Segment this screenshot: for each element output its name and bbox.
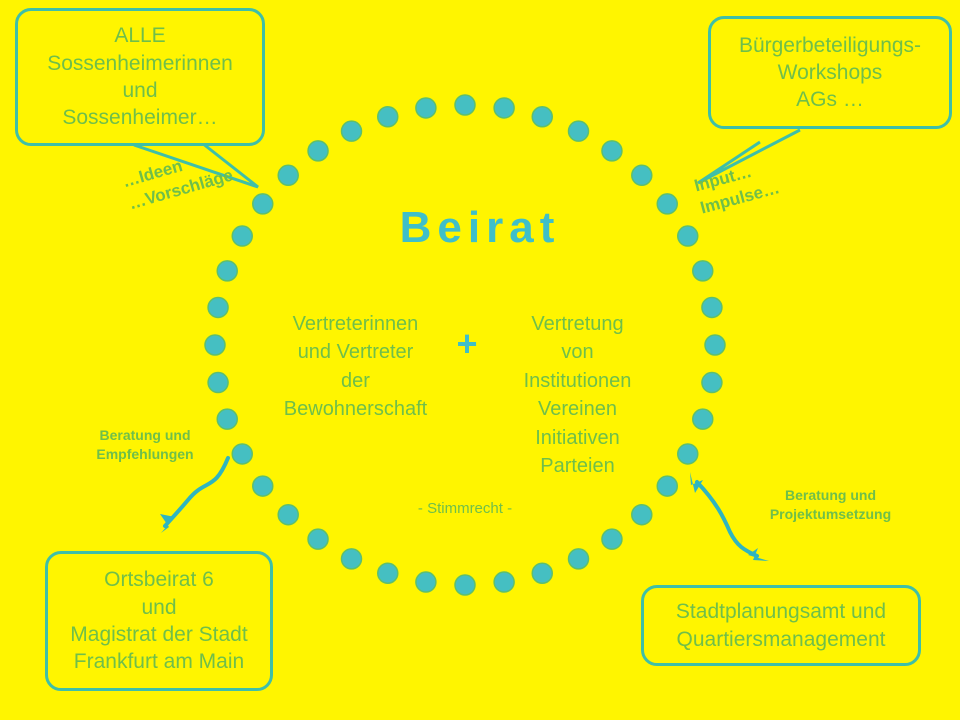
flow-label-beratung-empfehlungen: Beratung undEmpfehlungen: [80, 426, 210, 464]
ring-dot: [208, 297, 228, 317]
ring-dot: [416, 98, 436, 118]
ring-dot: [494, 572, 514, 592]
center-footnote-stimmrecht: - Stimmrecht -: [340, 500, 590, 517]
ring-dot: [217, 409, 237, 429]
box-ortsbeirat: Ortsbeirat 6undMagistrat der StadtFrankf…: [45, 551, 273, 691]
ring-dot: [208, 373, 228, 393]
flow-label-beratung-projektumsetzung: Beratung undProjektumsetzung: [748, 486, 913, 524]
speech-bubble-buergerbeteiligung: Bürgerbeteiligungs-WorkshopsAGs …: [708, 16, 952, 129]
ring-dot: [308, 141, 328, 161]
plus-icon: +: [447, 326, 487, 362]
box-ortsbeirat-text: Ortsbeirat 6undMagistrat der StadtFrankf…: [62, 566, 255, 675]
ring-dot: [416, 572, 436, 592]
ring-dot: [532, 107, 552, 127]
ring-dot: [308, 529, 328, 549]
ring-dot: [693, 261, 713, 281]
ring-dot: [569, 549, 589, 569]
ring-dot: [532, 563, 552, 583]
speech-bubble-alle-sossenheimer: ALLESossenheimerinnenundSossenheimer…: [15, 8, 265, 146]
center-column-left: Vertreterinnenund VertreterderBewohnersc…: [268, 310, 443, 424]
ring-dot: [232, 444, 252, 464]
ring-dot: [217, 261, 237, 281]
ring-dot: [455, 95, 475, 115]
center-column-right: VertretungvonInstitutionenVereinenInitia…: [490, 310, 665, 480]
ring-dot: [693, 409, 713, 429]
ring-dot: [632, 505, 652, 525]
ring-dot: [702, 297, 722, 317]
ring-dot: [278, 165, 298, 185]
ring-dot: [278, 505, 298, 525]
arrowhead-right-down: [748, 548, 769, 561]
ring-dot: [632, 165, 652, 185]
box-stadtplanungsamt-text: Stadtplanungsamt undQuartiersmanagement: [668, 598, 894, 653]
speech-bubble-alle-text: ALLESossenheimerinnenundSossenheimer…: [39, 22, 241, 131]
ring-dot: [602, 141, 622, 161]
ring-dot: [342, 549, 362, 569]
ring-dot: [678, 444, 698, 464]
ring-dot: [494, 98, 514, 118]
ring-dot: [702, 373, 722, 393]
diagram-canvas: ALLESossenheimerinnenundSossenheimer… Bü…: [0, 0, 960, 720]
ring-dot: [253, 476, 273, 496]
speech-bubble-buergerbeteiligung-text: Bürgerbeteiligungs-WorkshopsAGs …: [731, 32, 929, 114]
ring-dot: [378, 107, 398, 127]
ring-dot: [569, 121, 589, 141]
ring-dot: [342, 121, 362, 141]
ring-dot: [378, 563, 398, 583]
ring-dot: [455, 575, 475, 595]
ring-dot: [205, 335, 225, 355]
ring-dot: [602, 529, 622, 549]
arrow-beratung-empfehlungen: [165, 458, 228, 526]
box-stadtplanungsamt: Stadtplanungsamt undQuartiersmanagement: [641, 585, 921, 666]
center-title-beirat: Beirat: [0, 203, 960, 253]
arrowhead-left-down: [160, 514, 175, 533]
ring-dot: [705, 335, 725, 355]
arrowhead-right-up: [690, 472, 703, 493]
